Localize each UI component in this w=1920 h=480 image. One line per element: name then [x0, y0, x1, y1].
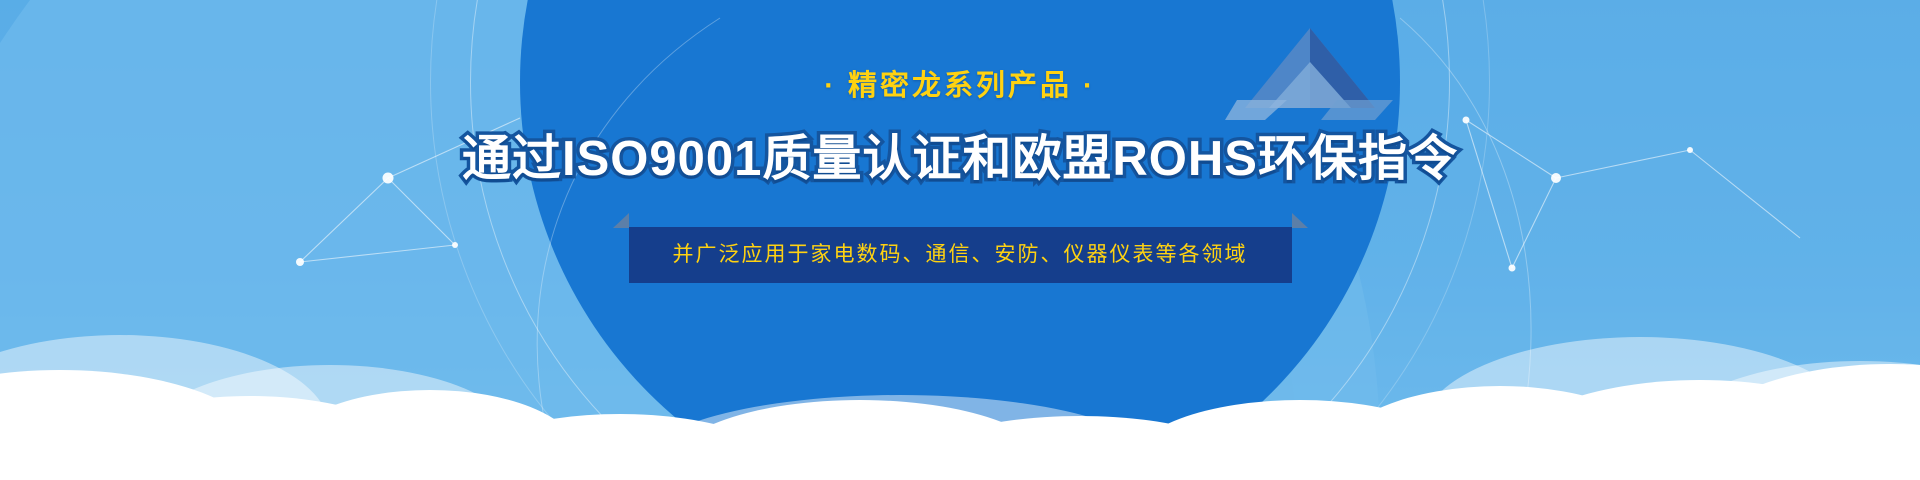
- banner-eyebrow: · 精密龙系列产品 ·: [824, 72, 1095, 101]
- banner-subtitle-ribbon: 并广泛应用于家电数码、通信、安防、仪器仪表等各领域: [629, 227, 1292, 283]
- banner-headline: 通过ISO9001质量认证和欧盟ROHS环保指令: [462, 133, 1458, 187]
- ribbon-fold-left-icon: [613, 213, 629, 228]
- banner-subtitle: 并广泛应用于家电数码、通信、安防、仪器仪表等各领域: [629, 227, 1292, 283]
- promo-banner: · 精密龙系列产品 · 通过ISO9001质量认证和欧盟ROHS环保指令 并广泛…: [0, 0, 1920, 480]
- ribbon-fold-right-icon: [1292, 213, 1308, 228]
- banner-content: · 精密龙系列产品 · 通过ISO9001质量认证和欧盟ROHS环保指令 并广泛…: [0, 0, 1920, 480]
